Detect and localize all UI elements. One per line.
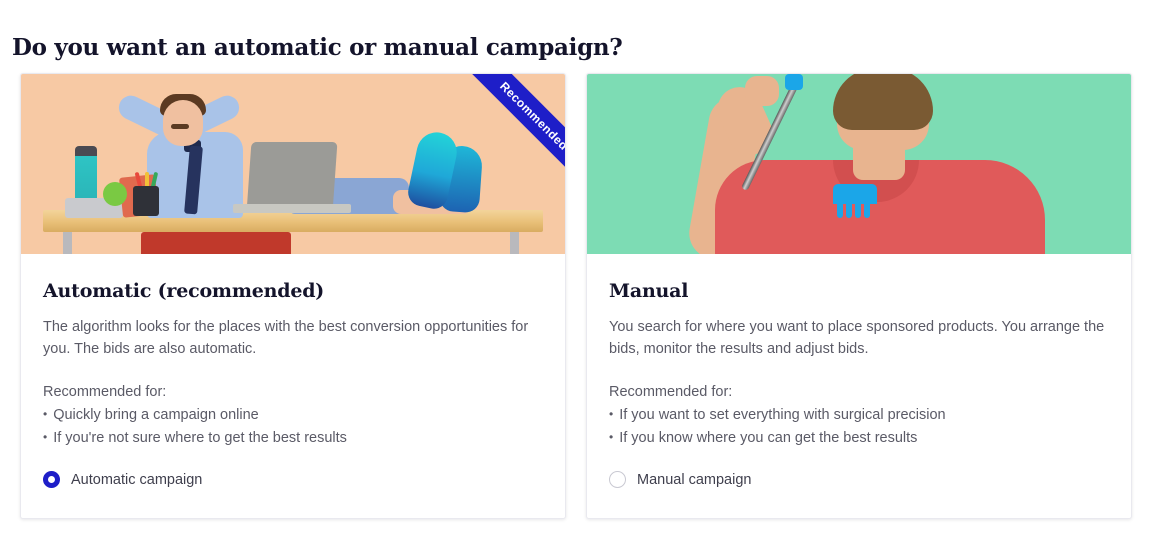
page-title: Do you want an automatic or manual campa…: [12, 34, 622, 61]
automatic-campaign-image: Recommended: [21, 74, 565, 254]
automatic-card-body: Automatic (recommended) The algorithm lo…: [21, 254, 565, 518]
manual-card-description: You search for where you want to place s…: [609, 316, 1109, 360]
back-scratcher-head-icon: [833, 184, 877, 204]
radio-unselected-icon[interactable]: [609, 471, 626, 488]
fist: [745, 76, 779, 106]
radio-option-automatic[interactable]: Automatic campaign: [43, 471, 543, 488]
manual-recommended-for-label: Recommended for:: [609, 382, 1109, 403]
laptop-screen-icon: [247, 142, 338, 212]
list-item: If you want to set everything with surgi…: [609, 404, 1109, 427]
campaign-type-chooser-page: Do you want an automatic or manual campa…: [0, 0, 1152, 539]
chair-icon: [141, 232, 291, 254]
radio-option-automatic-label: Automatic campaign: [71, 472, 202, 488]
radio-selected-icon[interactable]: [43, 471, 60, 488]
hair-back: [833, 74, 933, 130]
automatic-recommended-for-label: Recommended for:: [43, 382, 543, 403]
desk-leg-right: [510, 232, 519, 254]
manual-card-body: Manual You search for where you want to …: [587, 254, 1131, 518]
campaign-card-automatic[interactable]: Recommended Automatic (recommended) The …: [20, 73, 566, 519]
automatic-recommended-list: Quickly bring a campaign online If you'r…: [43, 404, 543, 449]
campaign-type-card-row: Recommended Automatic (recommended) The …: [20, 73, 1132, 519]
plant-icon: [103, 182, 127, 206]
laptop-base-icon: [233, 204, 351, 213]
scratcher-tine: [855, 202, 861, 218]
automatic-card-title: Automatic (recommended): [43, 280, 543, 302]
back-scratcher-illustration: [587, 74, 1131, 254]
radio-option-manual[interactable]: Manual campaign: [609, 471, 1109, 488]
list-item: If you're not sure where to get the best…: [43, 427, 543, 450]
desk-leg-left: [63, 232, 72, 254]
scratcher-tine: [846, 202, 852, 218]
list-item: Quickly bring a campaign online: [43, 404, 543, 427]
manual-recommended-list: If you want to set everything with surgi…: [609, 404, 1109, 449]
moustache: [171, 124, 189, 129]
scratcher-tine: [864, 202, 870, 218]
campaign-card-manual[interactable]: Manual You search for where you want to …: [586, 73, 1132, 519]
automatic-card-description: The algorithm looks for the places with …: [43, 316, 543, 360]
back-scratcher-grip-icon: [785, 74, 803, 90]
manual-card-title: Manual: [609, 280, 1109, 302]
head: [163, 100, 203, 146]
relaxed-businessman-illustration: [21, 74, 565, 254]
scratcher-tine: [837, 202, 843, 218]
pencil-cup-icon: [133, 186, 159, 216]
manual-campaign-image: [587, 74, 1131, 254]
list-item: If you know where you can get the best r…: [609, 427, 1109, 450]
radio-option-manual-label: Manual campaign: [637, 472, 751, 488]
